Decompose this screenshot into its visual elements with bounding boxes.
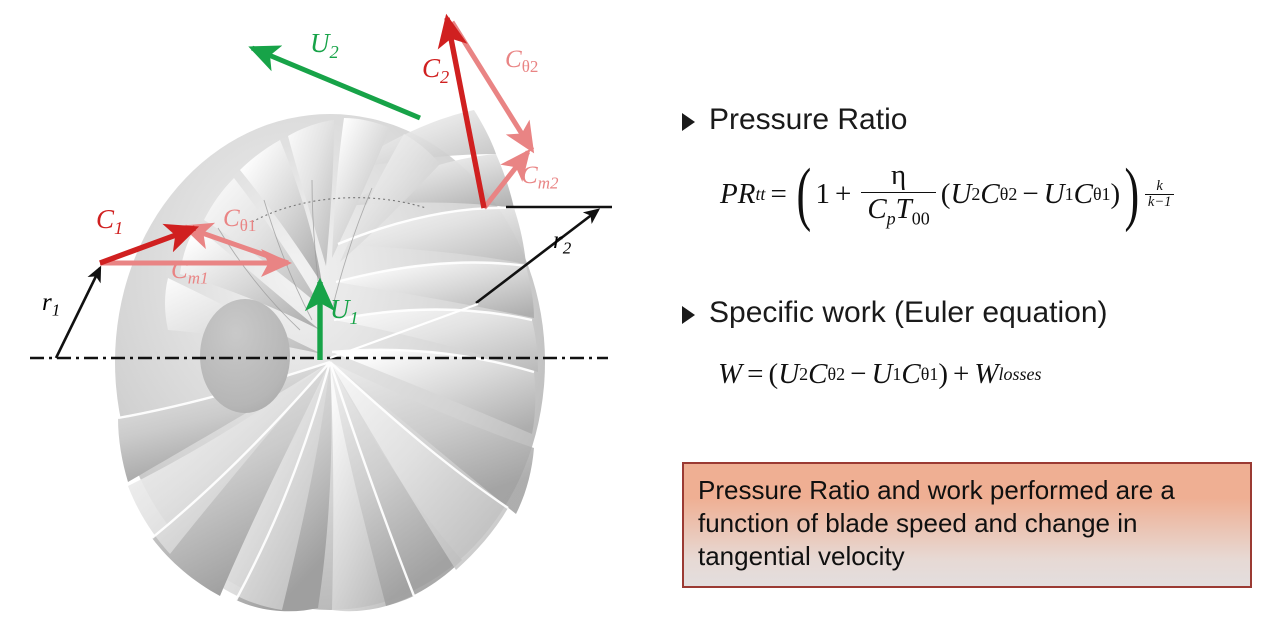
pr-open-paren: ( <box>796 164 811 224</box>
impeller-diagram-svg <box>0 0 660 620</box>
pr-inner-open: ( <box>941 178 951 211</box>
bullet-specific-work-label: Specific work (Euler equation) <box>709 297 1108 329</box>
pr-lhs: PR <box>720 178 755 211</box>
pr-plus: + <box>830 178 856 211</box>
pr-inner-close: ) <box>1111 178 1121 211</box>
bullet-specific-work: Specific work (Euler equation) <box>682 297 1108 329</box>
summary-callout-box: Pressure Ratio and work performed are a … <box>682 462 1252 588</box>
pr-exponent: k k−1 <box>1145 179 1174 211</box>
bullet-pressure-ratio: Pressure Ratio <box>682 104 907 136</box>
pr-lhs-sub: tt <box>755 184 765 205</box>
r1-radius-arrow <box>56 268 100 358</box>
u2-vector <box>252 48 420 118</box>
w-lhs: W <box>718 358 742 391</box>
triangle-bullet-icon <box>682 113 695 131</box>
w-open-paren: ( <box>769 358 779 391</box>
slide-canvas: C1 Cθ1 Cm1 C2 Cθ2 Cm2 U1 U2 r1 r2 Pressu… <box>0 0 1288 620</box>
w-plus: + <box>948 358 974 391</box>
pr-eta: η <box>885 160 912 192</box>
w-equals: = <box>742 358 768 391</box>
w-close-paren: ) <box>938 358 948 391</box>
pr-efficiency-fraction: η CpT00 <box>861 160 935 229</box>
pr-cp-t00: CpT00 <box>861 192 935 229</box>
impeller-diagram-panel: C1 Cθ1 Cm1 C2 Cθ2 Cm2 U1 U2 r1 r2 <box>0 0 660 620</box>
content-panel: Pressure Ratio PRtt = ( 1 + η CpT00 (U2C… <box>660 0 1288 620</box>
bullet-pressure-ratio-label: Pressure Ratio <box>709 104 907 136</box>
pressure-ratio-equation: PRtt = ( 1 + η CpT00 (U2Cθ2 − U1Cθ1) ) k… <box>720 160 1174 229</box>
impeller-hub <box>200 299 290 413</box>
pr-minus: − <box>1017 178 1043 211</box>
specific-work-equation: W = (U2Cθ2 − U1Cθ1) + Wlosses <box>718 356 1041 391</box>
pr-close-paren: ) <box>1125 164 1140 224</box>
w-minus: − <box>845 358 871 391</box>
pr-one: 1 <box>815 178 830 211</box>
triangle-bullet-icon <box>682 306 695 324</box>
summary-callout-text: Pressure Ratio and work performed are a … <box>698 474 1238 572</box>
pr-equals: = <box>765 178 791 211</box>
